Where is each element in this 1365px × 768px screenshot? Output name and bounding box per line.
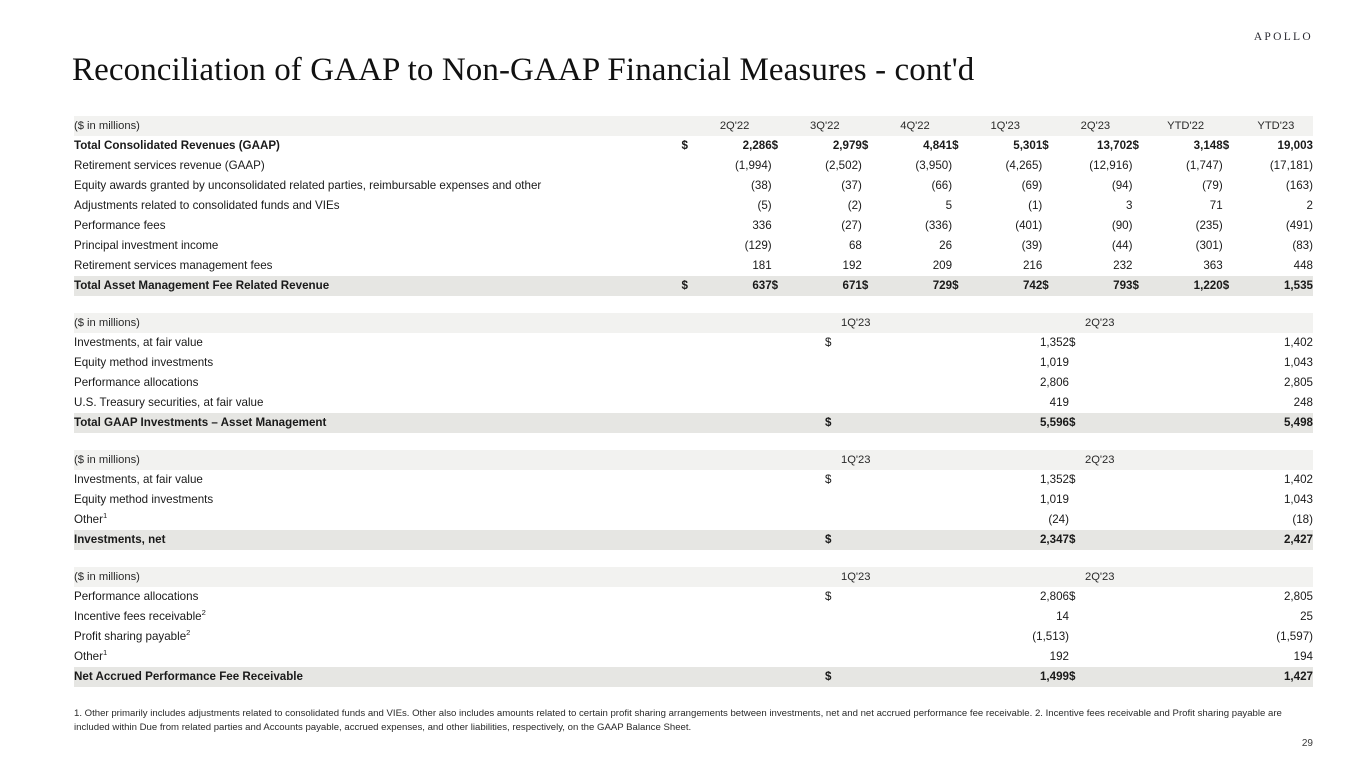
row-label: U.S. Treasury securities, at fair value bbox=[74, 393, 825, 413]
row-label: Profit sharing payable2 bbox=[74, 627, 825, 647]
cell-value: (27) bbox=[788, 216, 862, 236]
currency-symbol bbox=[1069, 627, 1085, 647]
row-label: Investments, at fair value bbox=[74, 470, 825, 490]
cell-value: (39) bbox=[968, 236, 1042, 256]
header-spacer bbox=[772, 116, 788, 136]
row-label: Equity method investments bbox=[74, 490, 825, 510]
table-row: Other1192194 bbox=[74, 647, 1313, 667]
cell-value: 336 bbox=[698, 216, 772, 236]
column-header: 1Q'23 bbox=[841, 313, 1069, 333]
cell-value: 1,019 bbox=[841, 490, 1069, 510]
cell-value: (2,502) bbox=[788, 156, 862, 176]
currency-symbol bbox=[681, 236, 697, 256]
header-spacer bbox=[1223, 116, 1239, 136]
table-row: Equity method investments1,0191,043 bbox=[74, 353, 1313, 373]
cell-value: 19,003 bbox=[1239, 136, 1313, 156]
units-label: ($ in millions) bbox=[74, 450, 825, 470]
table-header-row: ($ in millions)2Q'223Q'224Q'221Q'232Q'23… bbox=[74, 116, 1313, 136]
cell-value: (4,265) bbox=[968, 156, 1042, 176]
cell-value: 3,148 bbox=[1149, 136, 1223, 156]
cell-value: 13,702 bbox=[1058, 136, 1132, 156]
currency-symbol bbox=[681, 176, 697, 196]
row-label: Principal investment income bbox=[74, 236, 681, 256]
column-header: YTD'23 bbox=[1239, 116, 1313, 136]
currency-symbol: $ bbox=[1132, 276, 1148, 296]
currency-symbol bbox=[1132, 216, 1148, 236]
currency-symbol bbox=[862, 176, 878, 196]
cell-value: 2,806 bbox=[841, 373, 1069, 393]
table-row: Principal investment income(129)6826(39)… bbox=[74, 236, 1313, 256]
currency-symbol bbox=[1223, 216, 1239, 236]
currency-symbol bbox=[1223, 236, 1239, 256]
financial-tables: ($ in millions)2Q'223Q'224Q'221Q'232Q'23… bbox=[74, 116, 1313, 687]
currency-symbol bbox=[1132, 196, 1148, 216]
footnote-marker: 2 bbox=[186, 628, 190, 637]
currency-symbol bbox=[1069, 393, 1085, 413]
cell-value: 232 bbox=[1058, 256, 1132, 276]
currency-symbol bbox=[862, 156, 878, 176]
currency-symbol: $ bbox=[1069, 413, 1085, 433]
total-label: Total Asset Management Fee Related Reven… bbox=[74, 276, 681, 296]
column-header: 2Q'23 bbox=[1058, 116, 1132, 136]
cell-value: 5,301 bbox=[968, 136, 1042, 156]
currency-symbol bbox=[862, 236, 878, 256]
cell-value: 14 bbox=[841, 607, 1069, 627]
cell-value: (163) bbox=[1239, 176, 1313, 196]
row-label: Equity method investments bbox=[74, 353, 825, 373]
total-value: 1,427 bbox=[1085, 667, 1313, 687]
header-spacer bbox=[1069, 450, 1085, 470]
currency-symbol bbox=[1042, 256, 1058, 276]
currency-symbol: $ bbox=[825, 333, 841, 353]
table-row: Adjustments related to consolidated fund… bbox=[74, 196, 1313, 216]
cell-value: (44) bbox=[1058, 236, 1132, 256]
cell-value: 2,286 bbox=[698, 136, 772, 156]
total-value: 1,535 bbox=[1239, 276, 1313, 296]
total-value: 742 bbox=[968, 276, 1042, 296]
total-value: 1,220 bbox=[1149, 276, 1223, 296]
cell-value: 192 bbox=[841, 647, 1069, 667]
table-row: Equity method investments1,0191,043 bbox=[74, 490, 1313, 510]
currency-symbol bbox=[1042, 176, 1058, 196]
currency-symbol bbox=[952, 196, 968, 216]
table-header-row: ($ in millions)1Q'232Q'23 bbox=[74, 313, 1313, 333]
table-row: U.S. Treasury securities, at fair value4… bbox=[74, 393, 1313, 413]
currency-symbol bbox=[772, 176, 788, 196]
cell-value: (301) bbox=[1149, 236, 1223, 256]
cell-value: 5 bbox=[878, 196, 952, 216]
cell-value: (38) bbox=[698, 176, 772, 196]
cell-value: (66) bbox=[878, 176, 952, 196]
currency-symbol bbox=[681, 156, 697, 176]
row-label: Adjustments related to consolidated fund… bbox=[74, 196, 681, 216]
units-label: ($ in millions) bbox=[74, 567, 825, 587]
total-value: 1,499 bbox=[841, 667, 1069, 687]
column-header: 2Q'23 bbox=[1085, 450, 1313, 470]
cell-value: (401) bbox=[968, 216, 1042, 236]
cell-value: 2,806 bbox=[841, 587, 1069, 607]
currency-symbol bbox=[772, 156, 788, 176]
row-label: Performance allocations bbox=[74, 587, 825, 607]
currency-symbol: $ bbox=[862, 136, 878, 156]
column-header: 1Q'23 bbox=[841, 450, 1069, 470]
currency-symbol bbox=[1042, 156, 1058, 176]
column-header: 3Q'22 bbox=[788, 116, 862, 136]
currency-symbol bbox=[825, 607, 841, 627]
currency-symbol: $ bbox=[1223, 136, 1239, 156]
cell-value: 181 bbox=[698, 256, 772, 276]
currency-symbol bbox=[772, 256, 788, 276]
header-spacer bbox=[825, 567, 841, 587]
currency-symbol bbox=[1132, 176, 1148, 196]
total-value: 2,427 bbox=[1085, 530, 1313, 550]
cell-value: 192 bbox=[788, 256, 862, 276]
currency-symbol bbox=[825, 510, 841, 530]
cell-value: (18) bbox=[1085, 510, 1313, 530]
cell-value: 1,352 bbox=[841, 333, 1069, 353]
currency-symbol bbox=[1132, 236, 1148, 256]
currency-symbol bbox=[1223, 256, 1239, 276]
table-row: Equity awards granted by unconsolidated … bbox=[74, 176, 1313, 196]
currency-symbol bbox=[825, 353, 841, 373]
row-label: Other1 bbox=[74, 647, 825, 667]
header-spacer bbox=[1132, 116, 1148, 136]
units-label: ($ in millions) bbox=[74, 116, 681, 136]
currency-symbol: $ bbox=[825, 667, 841, 687]
table-header-row: ($ in millions)1Q'232Q'23 bbox=[74, 567, 1313, 587]
cell-value: (1,747) bbox=[1149, 156, 1223, 176]
total-label: Net Accrued Performance Fee Receivable bbox=[74, 667, 825, 687]
currency-symbol bbox=[862, 216, 878, 236]
currency-symbol: $ bbox=[825, 470, 841, 490]
row-label: Retirement services management fees bbox=[74, 256, 681, 276]
currency-symbol: $ bbox=[1069, 470, 1085, 490]
currency-symbol: $ bbox=[862, 276, 878, 296]
table-net-accrued-performance-fee: ($ in millions)1Q'232Q'23Performance all… bbox=[74, 567, 1313, 687]
table-row: Retirement services management fees18119… bbox=[74, 256, 1313, 276]
cell-value: 68 bbox=[788, 236, 862, 256]
currency-symbol bbox=[862, 196, 878, 216]
footnotes: 1. Other primarily includes adjustments … bbox=[74, 707, 1314, 735]
cell-value: (83) bbox=[1239, 236, 1313, 256]
currency-symbol bbox=[1223, 196, 1239, 216]
column-header: YTD'22 bbox=[1149, 116, 1223, 136]
column-header: 2Q'23 bbox=[1085, 313, 1313, 333]
currency-symbol bbox=[681, 216, 697, 236]
row-label: Retirement services revenue (GAAP) bbox=[74, 156, 681, 176]
cell-value: 26 bbox=[878, 236, 952, 256]
currency-symbol: $ bbox=[1042, 136, 1058, 156]
cell-value: (129) bbox=[698, 236, 772, 256]
currency-symbol bbox=[1069, 490, 1085, 510]
table-row: Performance fees336(27)(336)(401)(90)(23… bbox=[74, 216, 1313, 236]
apollo-logo: APOLLO bbox=[1254, 31, 1313, 43]
cell-value: (5) bbox=[698, 196, 772, 216]
header-spacer bbox=[825, 313, 841, 333]
currency-symbol bbox=[681, 196, 697, 216]
currency-symbol bbox=[952, 216, 968, 236]
table-row: Retirement services revenue (GAAP)(1,994… bbox=[74, 156, 1313, 176]
currency-symbol bbox=[952, 156, 968, 176]
header-spacer bbox=[681, 116, 697, 136]
cell-value: 194 bbox=[1085, 647, 1313, 667]
table-total-row: Total Asset Management Fee Related Reven… bbox=[74, 276, 1313, 296]
row-label: Investments, at fair value bbox=[74, 333, 825, 353]
cell-value: 1,402 bbox=[1085, 333, 1313, 353]
cell-value: (336) bbox=[878, 216, 952, 236]
table-row: Total Consolidated Revenues (GAAP)$2,286… bbox=[74, 136, 1313, 156]
header-spacer bbox=[952, 116, 968, 136]
header-spacer bbox=[825, 450, 841, 470]
table-row: Performance allocations2,8062,805 bbox=[74, 373, 1313, 393]
cell-value: 2 bbox=[1239, 196, 1313, 216]
column-header: 4Q'22 bbox=[878, 116, 952, 136]
currency-symbol: $ bbox=[825, 530, 841, 550]
total-value: 729 bbox=[878, 276, 952, 296]
cell-value: 71 bbox=[1149, 196, 1223, 216]
page-number: 29 bbox=[1302, 738, 1313, 749]
cell-value: 209 bbox=[878, 256, 952, 276]
cell-value: (491) bbox=[1239, 216, 1313, 236]
cell-value: 248 bbox=[1085, 393, 1313, 413]
cell-value: 4,841 bbox=[878, 136, 952, 156]
row-label: Total Consolidated Revenues (GAAP) bbox=[74, 136, 681, 156]
currency-symbol bbox=[825, 627, 841, 647]
cell-value: (69) bbox=[968, 176, 1042, 196]
page-title: Reconciliation of GAAP to Non-GAAP Finan… bbox=[72, 52, 974, 89]
cell-value: 448 bbox=[1239, 256, 1313, 276]
cell-value: 1,019 bbox=[841, 353, 1069, 373]
table-gaap-investments: ($ in millions)1Q'232Q'23Investments, at… bbox=[74, 313, 1313, 433]
row-label: Equity awards granted by unconsolidated … bbox=[74, 176, 681, 196]
table-row: Investments, at fair value$1,352$1,402 bbox=[74, 333, 1313, 353]
cell-value: (94) bbox=[1058, 176, 1132, 196]
cell-value: 1,402 bbox=[1085, 470, 1313, 490]
currency-symbol: $ bbox=[772, 276, 788, 296]
cell-value: 3 bbox=[1058, 196, 1132, 216]
footnote-marker: 1 bbox=[103, 511, 107, 520]
currency-symbol bbox=[952, 236, 968, 256]
currency-symbol bbox=[1069, 647, 1085, 667]
table-row: Profit sharing payable2(1,513)(1,597) bbox=[74, 627, 1313, 647]
cell-value: (3,950) bbox=[878, 156, 952, 176]
currency-symbol bbox=[1223, 176, 1239, 196]
cell-value: 1,043 bbox=[1085, 353, 1313, 373]
currency-symbol bbox=[1132, 256, 1148, 276]
header-spacer bbox=[1042, 116, 1058, 136]
currency-symbol: $ bbox=[952, 276, 968, 296]
row-label: Other1 bbox=[74, 510, 825, 530]
currency-symbol: $ bbox=[1042, 276, 1058, 296]
header-spacer bbox=[1069, 567, 1085, 587]
cell-value: 25 bbox=[1085, 607, 1313, 627]
currency-symbol bbox=[825, 373, 841, 393]
cell-value: (12,916) bbox=[1058, 156, 1132, 176]
cell-value: 1,352 bbox=[841, 470, 1069, 490]
column-header: 2Q'23 bbox=[1085, 567, 1313, 587]
total-label: Investments, net bbox=[74, 530, 825, 550]
header-spacer bbox=[1069, 313, 1085, 333]
footnote-marker: 2 bbox=[202, 608, 206, 617]
table-header-row: ($ in millions)1Q'232Q'23 bbox=[74, 450, 1313, 470]
row-label: Performance allocations bbox=[74, 373, 825, 393]
column-header: 2Q'22 bbox=[698, 116, 772, 136]
total-value: 5,596 bbox=[841, 413, 1069, 433]
currency-symbol bbox=[1132, 156, 1148, 176]
cell-value: 363 bbox=[1149, 256, 1223, 276]
currency-symbol bbox=[772, 216, 788, 236]
cell-value: (1,597) bbox=[1085, 627, 1313, 647]
cell-value: (90) bbox=[1058, 216, 1132, 236]
cell-value: 216 bbox=[968, 256, 1042, 276]
currency-symbol bbox=[1069, 510, 1085, 530]
currency-symbol: $ bbox=[1069, 587, 1085, 607]
cell-value: (235) bbox=[1149, 216, 1223, 236]
total-value: 637 bbox=[698, 276, 772, 296]
currency-symbol: $ bbox=[681, 276, 697, 296]
currency-symbol: $ bbox=[1069, 333, 1085, 353]
cell-value: (37) bbox=[788, 176, 862, 196]
row-label: Performance fees bbox=[74, 216, 681, 236]
table-fee-related-revenue: ($ in millions)2Q'223Q'224Q'221Q'232Q'23… bbox=[74, 116, 1313, 296]
currency-symbol bbox=[952, 256, 968, 276]
footnote-marker: 1 bbox=[103, 648, 107, 657]
currency-symbol bbox=[681, 256, 697, 276]
header-spacer bbox=[862, 116, 878, 136]
currency-symbol: $ bbox=[1069, 667, 1085, 687]
currency-symbol: $ bbox=[1069, 530, 1085, 550]
currency-symbol bbox=[825, 393, 841, 413]
currency-symbol bbox=[772, 196, 788, 216]
column-header: 1Q'23 bbox=[841, 567, 1069, 587]
total-value: 2,347 bbox=[841, 530, 1069, 550]
cell-value: 2,805 bbox=[1085, 373, 1313, 393]
cell-value: 1,043 bbox=[1085, 490, 1313, 510]
units-label: ($ in millions) bbox=[74, 313, 825, 333]
currency-symbol: $ bbox=[952, 136, 968, 156]
cell-value: 2,805 bbox=[1085, 587, 1313, 607]
table-total-row: Net Accrued Performance Fee Receivable$1… bbox=[74, 667, 1313, 687]
currency-symbol bbox=[1042, 216, 1058, 236]
currency-symbol: $ bbox=[1223, 276, 1239, 296]
column-header: 1Q'23 bbox=[968, 116, 1042, 136]
table-total-row: Investments, net$2,347$2,427 bbox=[74, 530, 1313, 550]
currency-symbol bbox=[1069, 373, 1085, 393]
cell-value: (17,181) bbox=[1239, 156, 1313, 176]
currency-symbol bbox=[862, 256, 878, 276]
row-label: Incentive fees receivable2 bbox=[74, 607, 825, 627]
cell-value: (24) bbox=[841, 510, 1069, 530]
currency-symbol: $ bbox=[825, 413, 841, 433]
currency-symbol: $ bbox=[825, 587, 841, 607]
table-total-row: Total GAAP Investments – Asset Managemen… bbox=[74, 413, 1313, 433]
cell-value: (1,513) bbox=[841, 627, 1069, 647]
currency-symbol: $ bbox=[1132, 136, 1148, 156]
currency-symbol: $ bbox=[681, 136, 697, 156]
currency-symbol bbox=[952, 176, 968, 196]
currency-symbol bbox=[1042, 196, 1058, 216]
currency-symbol bbox=[1223, 156, 1239, 176]
table-row: Other1(24)(18) bbox=[74, 510, 1313, 530]
cell-value: (2) bbox=[788, 196, 862, 216]
total-value: 5,498 bbox=[1085, 413, 1313, 433]
cell-value: (79) bbox=[1149, 176, 1223, 196]
total-value: 793 bbox=[1058, 276, 1132, 296]
table-row: Performance allocations$2,806$2,805 bbox=[74, 587, 1313, 607]
currency-symbol bbox=[825, 490, 841, 510]
currency-symbol: $ bbox=[772, 136, 788, 156]
currency-symbol bbox=[1069, 607, 1085, 627]
currency-symbol bbox=[772, 236, 788, 256]
cell-value: (1) bbox=[968, 196, 1042, 216]
table-investments-net: ($ in millions)1Q'232Q'23Investments, at… bbox=[74, 450, 1313, 550]
cell-value: 2,979 bbox=[788, 136, 862, 156]
table-row: Investments, at fair value$1,352$1,402 bbox=[74, 470, 1313, 490]
cell-value: 419 bbox=[841, 393, 1069, 413]
currency-symbol bbox=[825, 647, 841, 667]
total-value: 671 bbox=[788, 276, 862, 296]
total-label: Total GAAP Investments – Asset Managemen… bbox=[74, 413, 825, 433]
cell-value: (1,994) bbox=[698, 156, 772, 176]
currency-symbol bbox=[1069, 353, 1085, 373]
currency-symbol bbox=[1042, 236, 1058, 256]
table-row: Incentive fees receivable21425 bbox=[74, 607, 1313, 627]
